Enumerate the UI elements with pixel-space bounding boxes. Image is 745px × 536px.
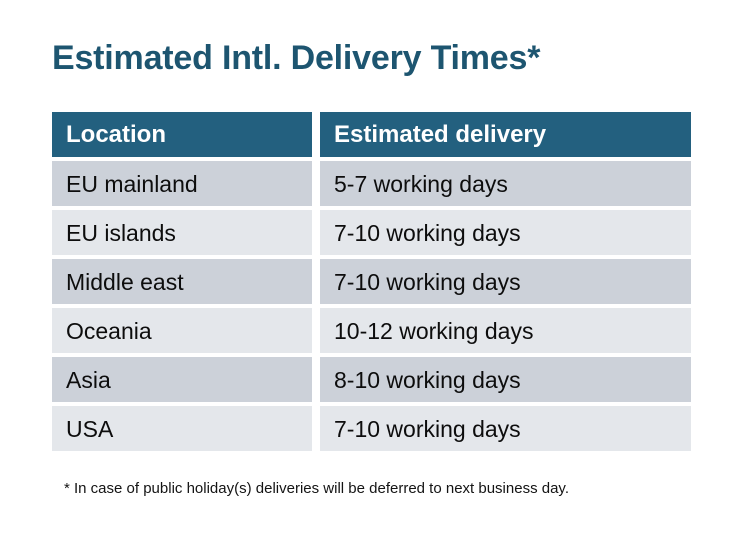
cell-location: EU mainland <box>52 161 312 206</box>
table-row: EU mainland 5-7 working days <box>52 161 691 206</box>
delivery-times-table: Location Estimated delivery EU mainland … <box>52 112 691 451</box>
table-row: USA 7-10 working days <box>52 406 691 451</box>
table-header-row: Location Estimated delivery <box>52 112 691 157</box>
column-header-location: Location <box>52 112 312 157</box>
cell-estimated-delivery: 5-7 working days <box>320 161 691 206</box>
cell-estimated-delivery: 7-10 working days <box>320 406 691 451</box>
footnote: * In case of public holiday(s) deliverie… <box>64 479 569 499</box>
column-divider <box>312 406 320 451</box>
column-divider <box>312 112 320 157</box>
cell-location: EU islands <box>52 210 312 255</box>
column-divider <box>312 308 320 353</box>
delivery-times-page: Estimated Intl. Delivery Times* Location… <box>0 0 745 536</box>
cell-location: Middle east <box>52 259 312 304</box>
cell-location: USA <box>52 406 312 451</box>
cell-location: Oceania <box>52 308 312 353</box>
column-header-estimated-delivery: Estimated delivery <box>320 112 691 157</box>
table-row: Oceania 10-12 working days <box>52 308 691 353</box>
page-title: Estimated Intl. Delivery Times* <box>52 36 540 80</box>
table-row: EU islands 7-10 working days <box>52 210 691 255</box>
table-row: Middle east 7-10 working days <box>52 259 691 304</box>
column-divider <box>312 161 320 206</box>
cell-estimated-delivery: 7-10 working days <box>320 259 691 304</box>
cell-estimated-delivery: 7-10 working days <box>320 210 691 255</box>
table-row: Asia 8-10 working days <box>52 357 691 402</box>
cell-location: Asia <box>52 357 312 402</box>
column-divider <box>312 357 320 402</box>
cell-estimated-delivery: 8-10 working days <box>320 357 691 402</box>
column-divider <box>312 210 320 255</box>
cell-estimated-delivery: 10-12 working days <box>320 308 691 353</box>
column-divider <box>312 259 320 304</box>
